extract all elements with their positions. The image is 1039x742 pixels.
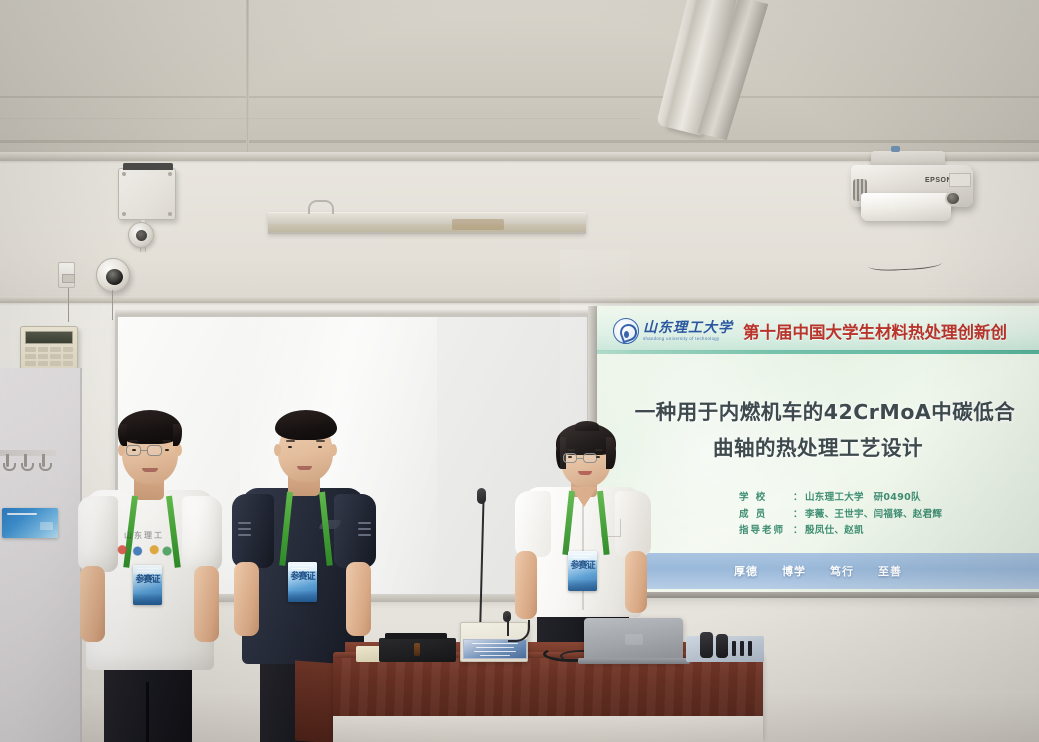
plaque-line	[476, 647, 514, 648]
slide-title-line1: 一种用于内燃机车的42CrMoA中碳低合	[611, 398, 1039, 428]
light-bracket	[308, 200, 334, 214]
meta-label: 学 校	[739, 490, 793, 507]
hair-side-right	[606, 437, 616, 469]
logo-name-cn: 山东理工大学	[643, 321, 733, 335]
hook	[24, 454, 27, 467]
hair-bun	[575, 421, 599, 431]
keypad-key[interactable]	[63, 361, 74, 366]
keypad-display	[25, 331, 73, 344]
eyebrow-right	[595, 449, 603, 451]
keypad-key[interactable]	[38, 361, 49, 366]
podium-base	[333, 716, 763, 742]
badge-line	[572, 557, 589, 558]
lens-right	[147, 445, 162, 456]
remote-control[interactable]	[700, 632, 713, 658]
ceiling-seam-3	[0, 118, 640, 119]
keypad-key[interactable]	[25, 354, 36, 359]
meta-label: 指导老师	[739, 523, 793, 540]
remote-control-2[interactable]	[716, 634, 728, 658]
projector-brand-label: EPSON	[925, 177, 952, 184]
eyebrow-left	[286, 440, 295, 442]
motto-word-3: 笃行	[830, 563, 854, 579]
keypad-keys[interactable]	[25, 347, 73, 366]
sleeve-stripe	[358, 534, 371, 536]
hair-sideburn-left	[118, 424, 127, 446]
badge-wave	[133, 594, 162, 605]
badge-line	[292, 568, 309, 569]
badge-header-band	[568, 551, 597, 560]
ear-right	[330, 444, 337, 456]
shirt-collar	[571, 487, 597, 507]
motto-word-1: 厚德	[734, 563, 758, 579]
tshirt-print-text: 山东理工	[112, 530, 176, 541]
logo-text-block: 山东理工大学 shandong university of technology	[643, 321, 733, 341]
sleeve-right	[182, 496, 222, 572]
wall-vertical-seam	[246, 0, 249, 160]
badge-line	[572, 554, 593, 555]
university-logo: 山东理工大学 shandong university of technology	[597, 318, 733, 344]
ear-left	[274, 444, 281, 456]
keypad-key[interactable]	[50, 354, 61, 359]
slide-header: 山东理工大学 shandong university of technology…	[597, 311, 1039, 351]
cable	[112, 290, 113, 320]
projector-lens	[945, 191, 961, 206]
arm-right	[346, 562, 371, 636]
sticker-line	[7, 513, 37, 515]
participant-badge: 参赛证	[133, 565, 162, 605]
keypad-key[interactable]	[38, 347, 49, 352]
meta-label: 成 员	[739, 507, 793, 524]
screw	[122, 172, 126, 176]
console-plaque	[463, 639, 527, 659]
logo-name-en: shandong university of technology	[643, 337, 733, 341]
participant-badge: 参赛证	[568, 551, 597, 591]
panel-slot	[748, 641, 752, 656]
meta-row-members: 成 员 ： 李薇、王世宇、闫福铎、赵君辉	[739, 507, 942, 524]
tshirt-graphic-print: 山东理工	[112, 530, 176, 564]
ceiling-speaker-dome	[96, 258, 130, 292]
laptop-lid[interactable]	[584, 618, 683, 662]
hook	[6, 454, 9, 467]
wall-molding-band-2	[0, 296, 1039, 303]
plaque-line	[474, 651, 516, 652]
hook	[42, 454, 45, 467]
mouth	[142, 468, 158, 472]
blue-equipment-sticker	[2, 508, 58, 538]
eyebrow-right	[316, 440, 325, 442]
sleeve-stripe	[238, 534, 251, 536]
screw	[122, 212, 126, 216]
keypad-key[interactable]	[25, 361, 36, 366]
panel-slot	[732, 641, 736, 656]
motto-word-2: 博学	[782, 563, 806, 579]
panel-slot	[740, 641, 744, 656]
arm-left	[515, 551, 537, 619]
keypad-key[interactable]	[50, 347, 61, 352]
projector: EPSON	[845, 163, 977, 229]
motto-word-4: 至善	[878, 563, 902, 579]
light-switch-plate[interactable]	[58, 262, 75, 288]
screw	[168, 172, 172, 176]
ceiling-seam	[0, 96, 1039, 98]
wall-speaker-small	[128, 222, 154, 248]
sleeve-left	[515, 491, 551, 557]
meta-value: 李薇、王世宇、闫福铎、赵君辉	[805, 507, 942, 524]
meta-row-school: 学 校 ： 山东理工大学 研0490队	[739, 490, 942, 507]
lens-left	[563, 453, 577, 463]
cabinet-hooks	[0, 454, 60, 470]
meta-value: 山东理工大学 研0490队	[805, 490, 921, 507]
badge-text: 参赛证	[133, 576, 162, 585]
ceiling	[0, 0, 1039, 152]
badge-header-band	[288, 562, 317, 571]
university-emblem-icon	[613, 318, 639, 344]
sleeve-right	[334, 494, 376, 568]
badge-header-band	[133, 565, 162, 574]
lens-right	[583, 453, 597, 463]
hair-sideburn-right	[173, 424, 182, 446]
hair	[275, 410, 337, 440]
mouth	[578, 471, 592, 475]
arm-left	[234, 562, 259, 636]
eyebrow-left	[129, 440, 138, 442]
arm-right	[625, 551, 647, 613]
slide-competition-banner: 第十届中国大学生材料热处理创新创	[733, 319, 1039, 343]
badge-text: 参赛证	[288, 573, 317, 582]
sleeve-stripe	[358, 522, 371, 524]
plaque-line	[472, 643, 518, 644]
sleeve-stripe	[238, 522, 251, 524]
keypad-key[interactable]	[63, 354, 74, 359]
badge-wave	[288, 591, 317, 602]
cable	[68, 288, 69, 322]
access-control-keypad[interactable]	[20, 326, 78, 370]
mouth	[297, 466, 312, 470]
badge-wave	[568, 580, 597, 591]
glasses-icon	[563, 453, 607, 465]
wall-stain	[452, 219, 504, 230]
sleeve-stripe	[358, 528, 371, 530]
electrical-junction-box	[118, 168, 176, 220]
projector-lens-hood	[861, 193, 951, 221]
eyebrow-right	[162, 440, 171, 442]
arm-left	[80, 566, 105, 642]
screw	[168, 212, 172, 216]
eyebrow-left	[567, 449, 575, 451]
keypad-key[interactable]	[38, 354, 49, 359]
badge-line	[137, 568, 158, 569]
person-student-left: 山东理工 参赛证	[78, 400, 248, 742]
keypad-key[interactable]	[25, 347, 36, 352]
badge-line	[137, 571, 154, 572]
pants	[104, 660, 192, 742]
meta-row-advisors: 指导老师 ： 殷凤仕、赵凯	[739, 523, 942, 540]
badge-text: 参赛证	[568, 562, 597, 571]
wall-fluorescent-fixture	[268, 212, 586, 234]
left-cabinet	[0, 368, 82, 742]
arm-right	[194, 566, 219, 642]
badge-line	[292, 565, 313, 566]
participant-badge: 参赛证	[288, 562, 317, 602]
ceiling-seam-2	[0, 140, 1039, 143]
projector-sticker	[949, 173, 971, 187]
microphone-head	[477, 488, 486, 504]
sleeve-left	[232, 494, 274, 568]
sleeve-stripe	[238, 528, 251, 530]
meta-colon: ：	[793, 490, 805, 507]
meta-colon: ：	[793, 523, 805, 540]
tray-knob[interactable]	[414, 643, 420, 656]
classroom-presentation-photo: EPSON 山东理工大学 shandong university of tech…	[0, 0, 1039, 742]
sticker-block	[40, 522, 53, 530]
meta-value: 殷凤仕、赵凯	[805, 523, 864, 540]
slide-meta-block: 学 校 ： 山东理工大学 研0490队 成 员 ： 李薇、王世宇、闫福铎、赵君辉…	[739, 490, 942, 540]
pants-seam	[146, 682, 149, 742]
plaque-line	[480, 655, 510, 656]
meta-colon: ：	[793, 507, 805, 524]
laptop-base[interactable]	[578, 658, 690, 664]
keypad-key[interactable]	[63, 347, 74, 352]
keypad-key[interactable]	[50, 361, 61, 366]
podium-side-panel	[295, 661, 337, 742]
